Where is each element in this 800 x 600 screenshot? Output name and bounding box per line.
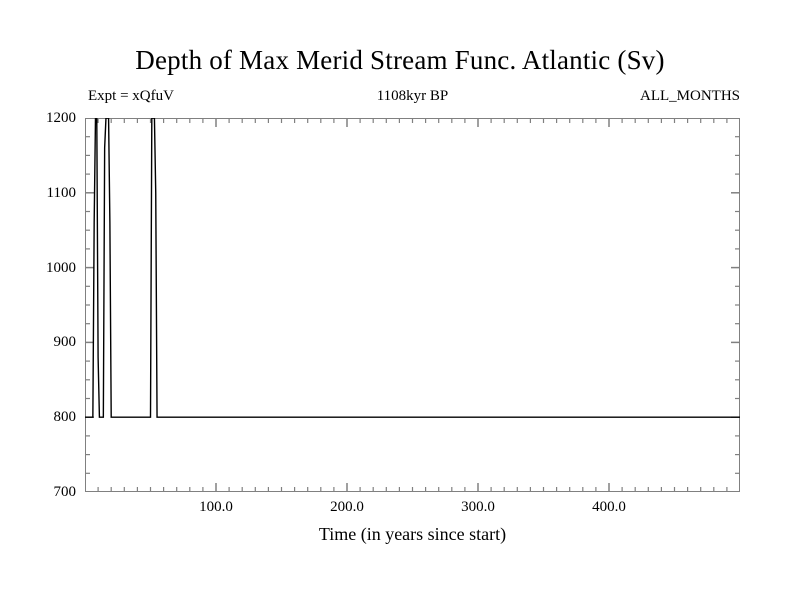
y-tick-label: 1100 — [16, 186, 76, 201]
subtitle-months: ALL_MONTHS — [640, 88, 740, 105]
x-tick-label: 100.0 — [176, 500, 256, 515]
plot-page: Depth of Max Merid Stream Func. Atlantic… — [0, 0, 800, 600]
subtitle-row: Expt = xQfuV 1108kyr BP ALL_MONTHS — [85, 88, 740, 108]
x-axis-title: Time (in years since start) — [85, 524, 740, 545]
y-tick-label: 700 — [16, 485, 76, 500]
y-tick-label: 1000 — [16, 261, 76, 276]
x-tick-label: 400.0 — [569, 500, 649, 515]
page-title: Depth of Max Merid Stream Func. Atlantic… — [0, 44, 800, 76]
x-axis-tick-labels: 100.0200.0300.0400.0 — [85, 500, 800, 520]
x-tick-label: 200.0 — [307, 500, 387, 515]
x-tick-label: 300.0 — [438, 500, 518, 515]
y-axis-tick-labels: 700800900100011001200 — [10, 118, 76, 492]
tick-marks — [85, 118, 740, 492]
y-tick-label: 1200 — [16, 111, 76, 126]
plot-canvas — [85, 118, 740, 492]
data-series — [85, 118, 740, 417]
y-tick-label: 900 — [16, 335, 76, 350]
plot-area — [85, 118, 740, 492]
data-line — [85, 118, 740, 417]
y-tick-label: 800 — [16, 410, 76, 425]
